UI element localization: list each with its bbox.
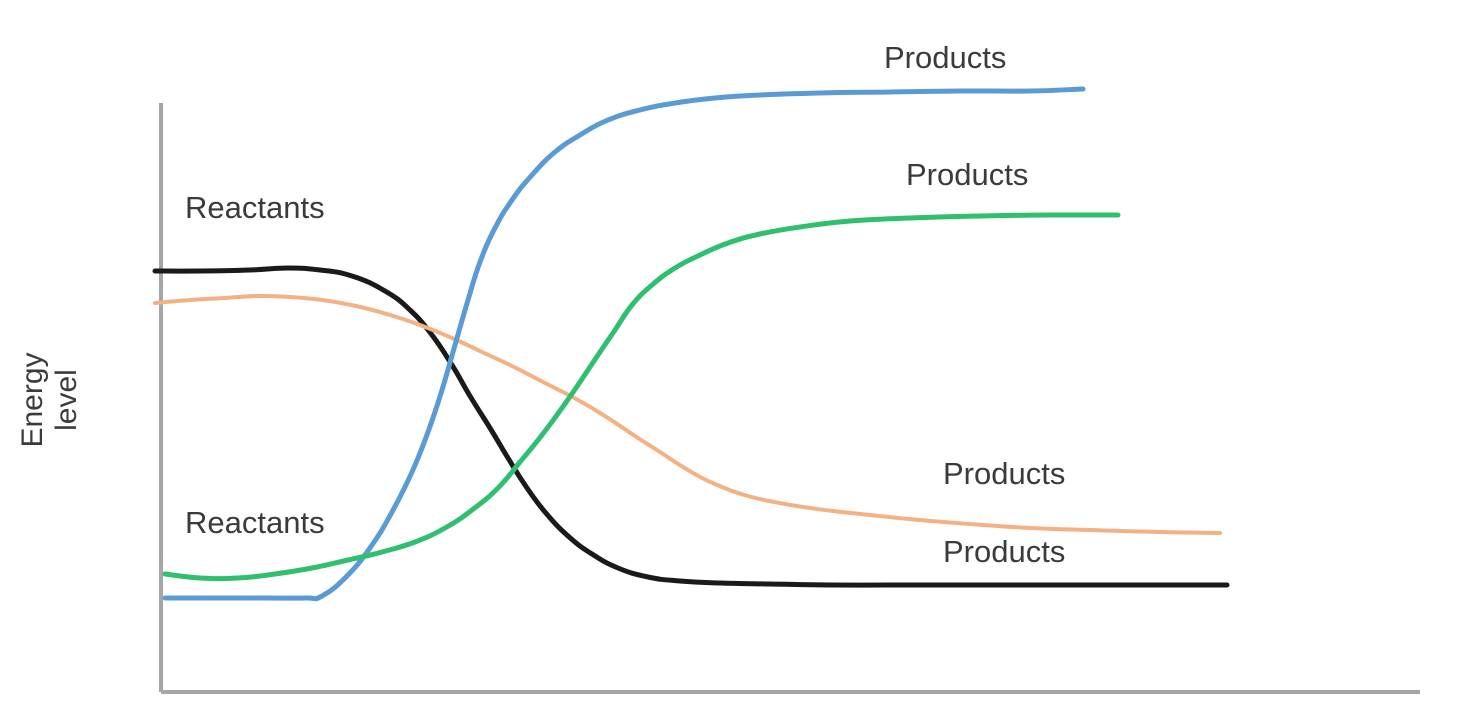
annotation-products-orange: Products <box>943 457 1065 491</box>
annotation-products-black: Products <box>943 535 1065 569</box>
plot-area <box>0 0 1463 722</box>
curve-reactants-1 <box>155 296 1220 533</box>
annotation-reactants-black: Reactants <box>185 191 325 225</box>
annotation-reactants-blue: Reactants <box>185 506 325 540</box>
annotation-products-green: Products <box>906 158 1028 192</box>
energy-level-chart: Energy level ReactantsReactantsProductsP… <box>0 0 1463 722</box>
annotation-products-blue: Products <box>884 41 1006 75</box>
